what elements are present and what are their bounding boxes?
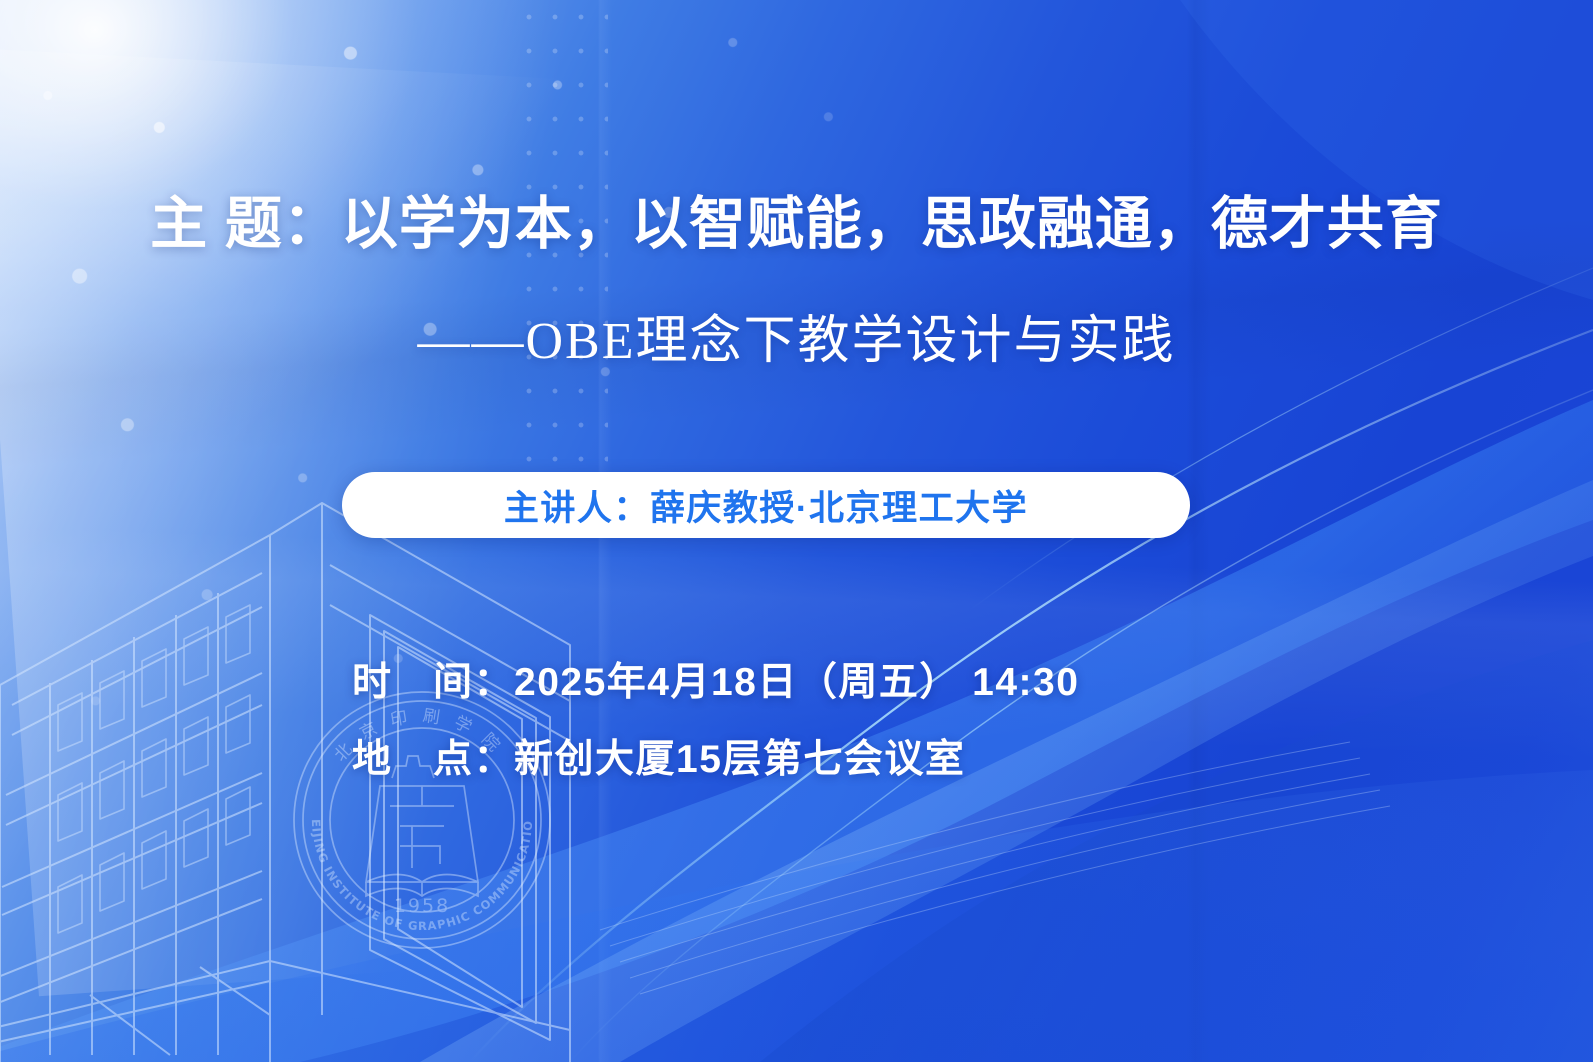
speaker-badge: 主讲人：薛庆教授·北京理工大学 [342, 472, 1190, 538]
event-time-line: 时 间：2025年4月18日（周五） 14:30 [352, 644, 1079, 721]
page-title: 主 题：以学为本，以智赋能，思政融通，德才共育 [0, 193, 1593, 257]
event-poster: 北京印刷学院 BEIJING INSTITUTE OF GRAPHIC COMM… [0, 0, 1593, 1062]
event-details: 时 间：2025年4月18日（周五） 14:30 地 点：新创大厦15层第七会议… [352, 644, 1079, 798]
poster-content: 主 题：以学为本，以智赋能，思政融通，德才共育 ——OBE理念下教学设计与实践 … [0, 0, 1593, 1062]
event-location-line: 地 点：新创大厦15层第七会议室 [352, 721, 1079, 798]
speaker-badge-label: 主讲人：薛庆教授·北京理工大学 [504, 480, 1028, 531]
page-subtitle: ——OBE理念下教学设计与实践 [0, 312, 1593, 372]
